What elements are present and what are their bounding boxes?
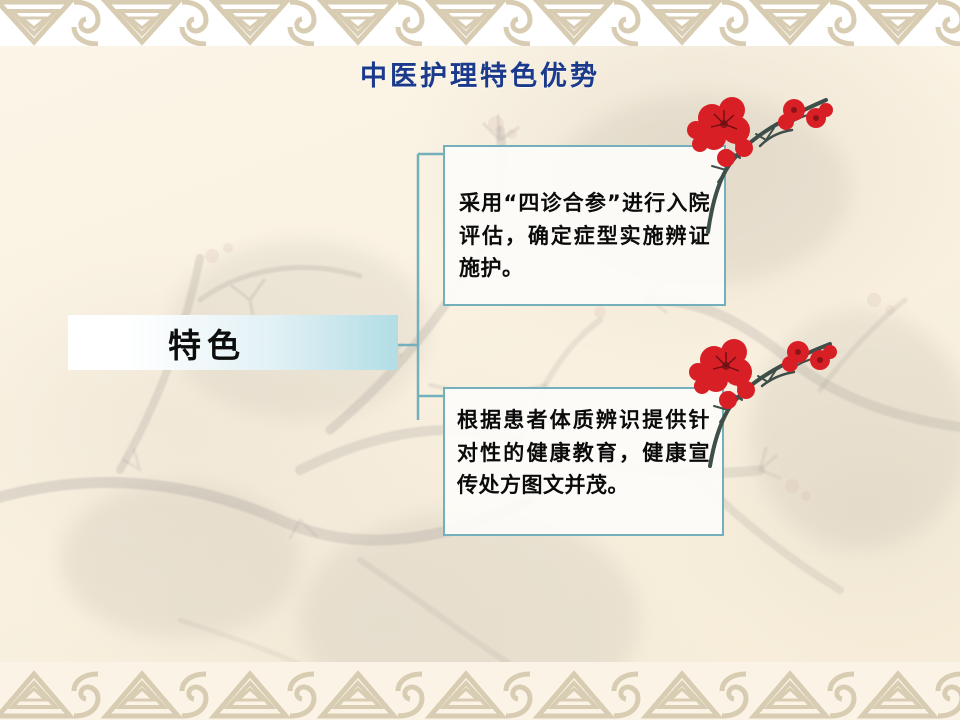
plum-blossom-decoration-bottom [648, 330, 863, 470]
slide-canvas: 中医护理特色优势 特色 采用“四诊合参”进行入院评估，确定症型实施辨证施护。 根… [0, 0, 960, 720]
top-border-svg [0, 0, 960, 46]
connector-bracket [390, 130, 450, 420]
bottom-border-svg [0, 662, 960, 720]
top-border-pattern [0, 0, 960, 46]
feature-label-text: 特色 [168, 319, 246, 367]
plum-blossom-decoration-top [640, 84, 860, 234]
bottom-border-pattern [0, 662, 960, 720]
feature-label-box[interactable]: 特色 [68, 315, 398, 370]
